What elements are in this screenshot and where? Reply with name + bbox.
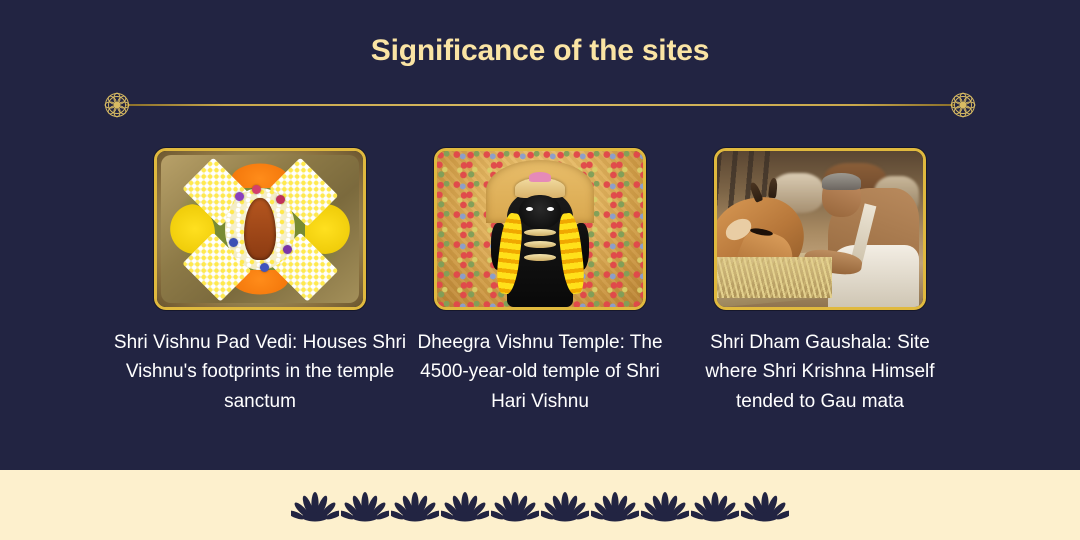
lotus-icon <box>741 488 789 522</box>
vishnu-pad-vedi-floral-mandala-photo <box>154 148 366 310</box>
lotus-icon <box>341 488 389 522</box>
divider <box>100 88 980 122</box>
site-card-caption: Dheegra Vishnu Temple: The 4500-year-old… <box>409 328 671 416</box>
site-card-caption: Shri Dham Gaushala: Site where Shri Kris… <box>696 328 944 416</box>
page-title: Significance of the sites <box>0 34 1080 68</box>
dheegra-vishnu-temple-deity-photo <box>434 148 646 310</box>
lotus-icon <box>491 488 539 522</box>
lotus-motif-row <box>0 470 1080 540</box>
site-card: Dheegra Vishnu Temple: The 4500-year-old… <box>434 148 646 416</box>
lotus-icon <box>591 488 639 522</box>
lotus-icon <box>391 488 439 522</box>
rosette-mandala-icon <box>946 88 980 122</box>
rosette-mandala-icon <box>100 88 134 122</box>
footer-band <box>0 470 1080 540</box>
divider-line <box>126 104 954 106</box>
lotus-icon <box>441 488 489 522</box>
site-card-list: Shri Vishnu Pad Vedi: Houses Shri Vishnu… <box>0 148 1080 416</box>
shri-dham-gaushala-photo <box>714 148 926 310</box>
site-card: Shri Vishnu Pad Vedi: Houses Shri Vishnu… <box>154 148 366 416</box>
lotus-icon <box>641 488 689 522</box>
site-card-caption: Shri Vishnu Pad Vedi: Houses Shri Vishnu… <box>110 328 410 416</box>
lotus-icon <box>691 488 739 522</box>
lotus-icon <box>291 488 339 522</box>
lotus-icon <box>541 488 589 522</box>
slide-canvas: Significance of the sites <box>0 0 1080 540</box>
site-card: Shri Dham Gaushala: Site where Shri Kris… <box>714 148 926 416</box>
